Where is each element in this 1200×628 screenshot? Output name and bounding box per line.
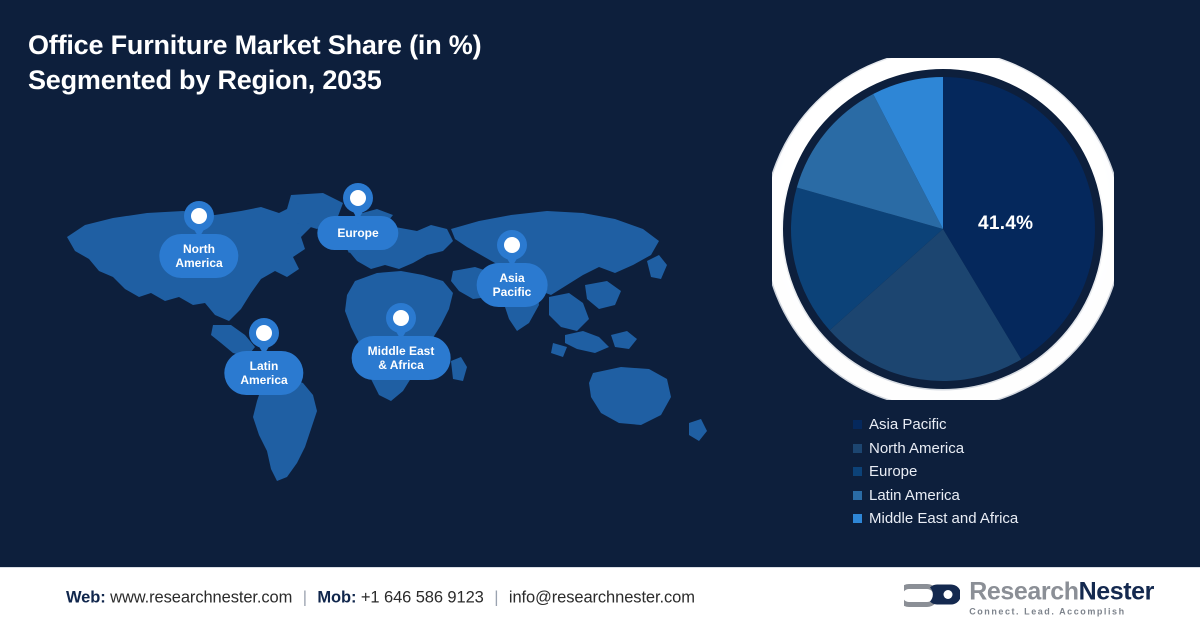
map-pin-label-north-america: North America (159, 234, 238, 278)
pie-chart-svg (772, 58, 1114, 400)
footer-contact: Web: www.researchnester.com | Mob: +1 64… (66, 589, 695, 608)
pin-label-line2: America (175, 256, 222, 270)
title-line-1: Office Furniture Market Share (in %) (28, 30, 481, 60)
legend-swatch-icon (853, 420, 862, 429)
pin-label-line1: Europe (337, 226, 378, 240)
legend-label: Middle East and Africa (869, 511, 1018, 526)
footer-web-label: Web: (66, 589, 106, 607)
legend-label: Asia Pacific (869, 417, 947, 432)
footer-separator-1: | (303, 589, 307, 607)
legend-item-asia-pacific[interactable]: Asia Pacific (853, 413, 1153, 437)
legend-swatch-icon (853, 491, 862, 500)
legend-swatch-icon (853, 467, 862, 476)
pin-label-line2: America (240, 373, 287, 387)
footer-separator-2: | (494, 589, 498, 607)
legend-item-north-america[interactable]: North America (853, 437, 1153, 461)
map-pin-label-asia-pacific: Asia Pacific (477, 263, 548, 307)
legend-label: North America (869, 441, 964, 456)
footer-email[interactable]: info@researchnester.com (509, 589, 695, 607)
pie-chart: 41.4% (772, 58, 1114, 400)
map-pin-label-europe: Europe (317, 216, 398, 250)
pie-slices[interactable] (791, 77, 1095, 381)
pie-value-label-asia-pacific: 41.4% (978, 213, 1033, 235)
title-line-2: Segmented by Region, 2035 (28, 63, 668, 98)
footer-bar: Web: www.researchnester.com | Mob: +1 64… (0, 567, 1200, 628)
legend-swatch-icon (853, 514, 862, 523)
pin-label-line1: Middle East (368, 344, 435, 358)
footer-mob-value: +1 646 586 9123 (361, 589, 484, 607)
logo-word-nester: Nester (1079, 578, 1154, 606)
world-map: North America Europe (55, 185, 745, 485)
pin-label-line1: Latin (250, 359, 279, 373)
brand-logo[interactable]: ResearchNester Connect. Lead. Accomplish (904, 580, 1154, 617)
page-title: Office Furniture Market Share (in %) Seg… (28, 28, 668, 98)
map-pin-label-middle-east-africa: Middle East & Africa (352, 336, 451, 380)
footer-web-value[interactable]: www.researchnester.com (110, 589, 292, 607)
legend-item-europe[interactable]: Europe (853, 460, 1153, 484)
main-panel: Office Furniture Market Share (in %) Seg… (0, 0, 1200, 567)
legend-label: Latin America (869, 488, 960, 503)
legend-item-middle-east-and-africa[interactable]: Middle East and Africa (853, 507, 1153, 531)
legend-label: Europe (869, 464, 917, 479)
pin-label-line2: & Africa (378, 358, 424, 372)
map-pin-label-latin-america: Latin America (224, 351, 303, 395)
legend-item-latin-america[interactable]: Latin America (853, 484, 1153, 508)
logo-wordmark: ResearchNester Connect. Lead. Accomplish (969, 580, 1154, 617)
pin-label-line2: Pacific (493, 285, 532, 299)
footer-mob-label: Mob: (317, 589, 356, 607)
pin-label-line1: Asia (499, 271, 524, 285)
chart-legend: Asia PacificNorth AmericaEuropeLatin Ame… (853, 413, 1153, 531)
infographic-root: Office Furniture Market Share (in %) Seg… (0, 0, 1200, 628)
logo-tagline: Connect. Lead. Accomplish (969, 608, 1154, 617)
pin-label-line1: North (183, 242, 215, 256)
legend-swatch-icon (853, 444, 862, 453)
logo-word-research: Research (969, 578, 1078, 606)
chain-link-icon (904, 581, 960, 616)
